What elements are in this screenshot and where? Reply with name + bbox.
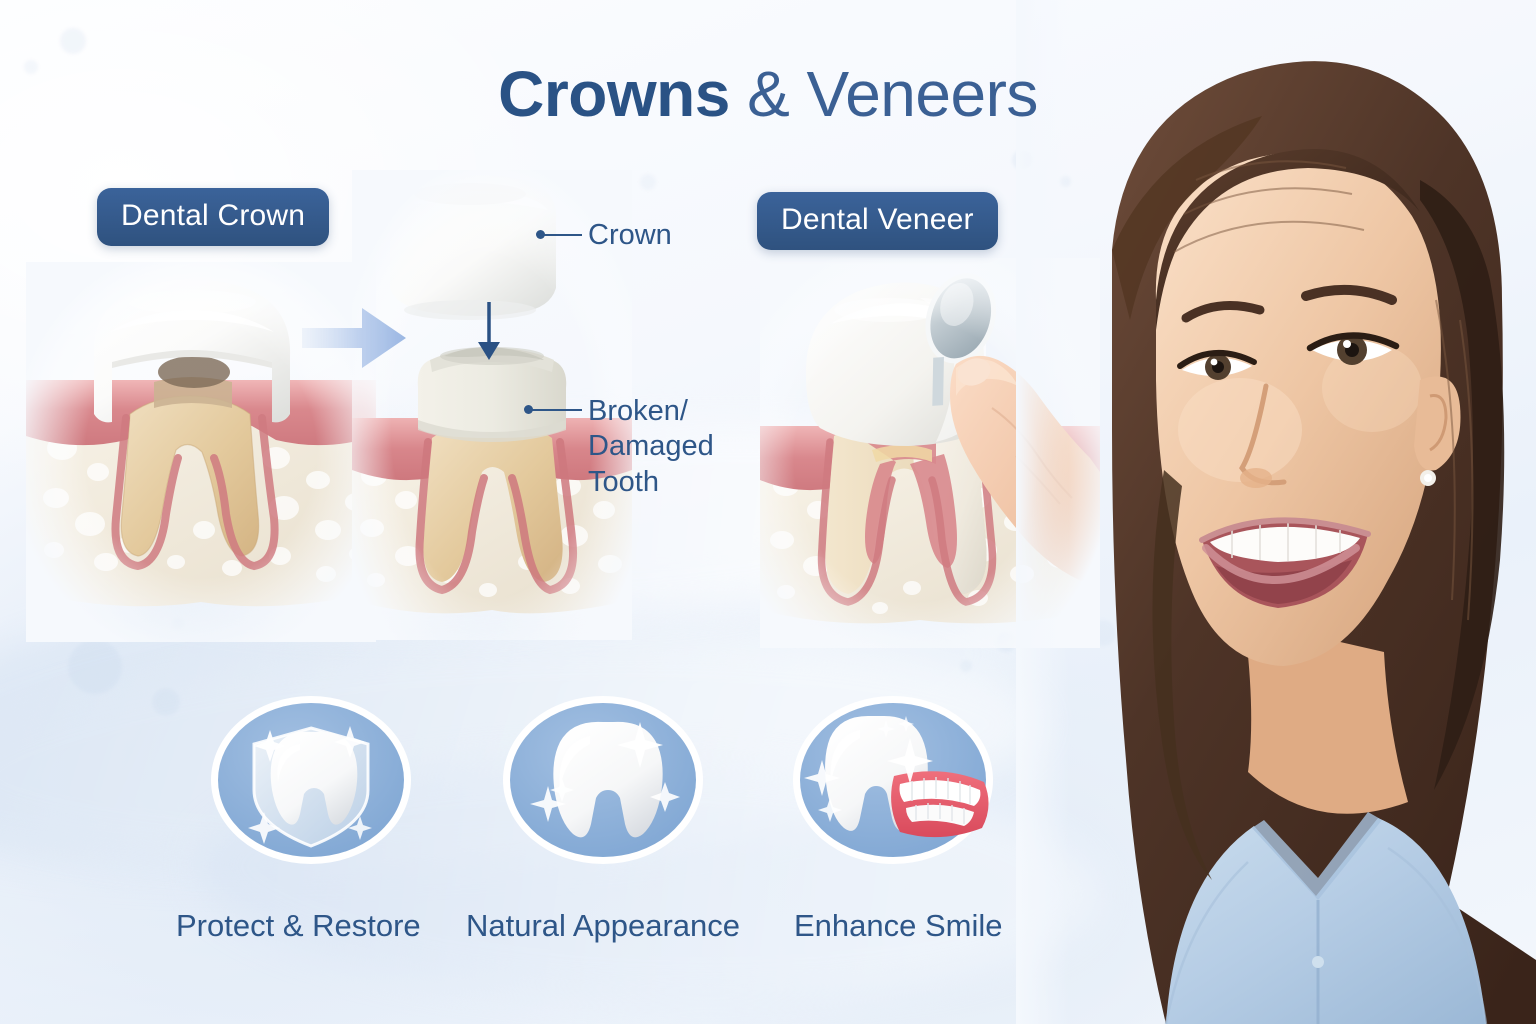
placement-arrow-down-icon <box>472 300 506 364</box>
infographic-canvas: Crowns & Veneers Dental Crown Dental Ven… <box>0 0 1536 1024</box>
benefit-label-natural-appearance: Natural Appearance <box>466 908 740 944</box>
background-bubble <box>60 28 86 54</box>
process-arrow-right-icon <box>300 302 408 374</box>
background-bubble <box>640 174 656 190</box>
benefit-icon-shield-tooth[interactable] <box>208 694 414 870</box>
benefit-label-enhance-smile: Enhance Smile <box>794 908 1003 944</box>
page-title-light: & Veneers <box>747 58 1038 130</box>
portrait-smiling-woman <box>1016 0 1536 1024</box>
callout-broken-tooth-label: Broken/ Damaged Tooth <box>588 394 768 500</box>
page-title: Crowns & Veneers <box>0 62 1536 126</box>
background-bubble <box>960 660 972 672</box>
callout-broken-line-2: Damaged <box>588 429 768 464</box>
background-bubble <box>68 640 122 694</box>
callout-broken-line-1: Broken/ <box>588 394 768 429</box>
page-title-strong: Crowns <box>498 58 730 130</box>
benefit-label-protect-restore: Protect & Restore <box>176 908 421 944</box>
benefit-icon-tooth-with-smile[interactable] <box>790 694 996 870</box>
crown-leader-line <box>540 234 582 236</box>
broken-tooth-leader-line <box>530 409 582 411</box>
callout-crown-label: Crown <box>588 218 672 253</box>
badge-dental-crown[interactable]: Dental Crown <box>97 188 329 246</box>
background-bubble <box>152 688 180 716</box>
benefit-icon-sparkling-tooth[interactable] <box>500 694 706 870</box>
badge-dental-veneer[interactable]: Dental Veneer <box>757 192 998 250</box>
callout-broken-line-3: Tooth <box>588 465 768 500</box>
